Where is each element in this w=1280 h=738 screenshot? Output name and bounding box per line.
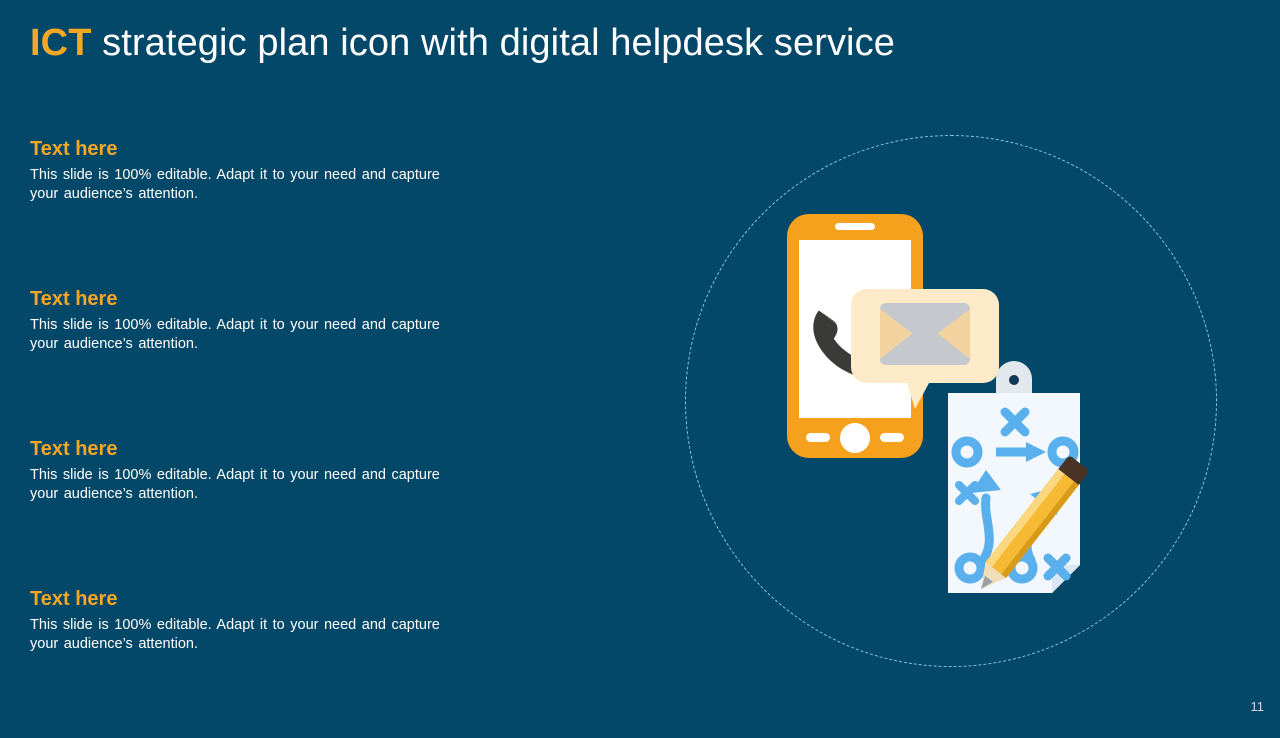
x-mark-bottom-right (1048, 558, 1066, 576)
slide-root: ICT strategic plan icon with digital hel… (0, 0, 1280, 720)
content-block-4: Text here This slide is 100% editable. A… (30, 588, 480, 738)
content-block-3: Text here This slide is 100% editable. A… (30, 438, 480, 588)
block-body: This slide is 100% editable. Adapt it to… (30, 166, 470, 204)
title-accent-word: ICT (30, 22, 92, 64)
envelope-icon (880, 303, 970, 365)
block-heading: Text here (30, 438, 480, 460)
block-body: This slide is 100% editable. Adapt it to… (30, 316, 470, 354)
x-mark-left (959, 485, 975, 501)
block-heading: Text here (30, 588, 480, 610)
page-title: ICT strategic plan icon with digital hel… (30, 22, 895, 65)
block-body: This slide is 100% editable. Adapt it to… (30, 466, 470, 504)
page-number: 11 (1251, 699, 1265, 714)
block-heading: Text here (30, 288, 480, 310)
block-heading: Text here (30, 138, 480, 160)
block-body: This slide is 100% editable. Adapt it to… (30, 616, 470, 654)
illustration (680, 130, 1225, 675)
illustration-artwork (680, 130, 1225, 675)
content-column: Text here This slide is 100% editable. A… (30, 138, 480, 738)
title-rest: strategic plan icon with digital helpdes… (92, 22, 895, 64)
content-block-2: Text here This slide is 100% editable. A… (30, 288, 480, 438)
content-block-1: Text here This slide is 100% editable. A… (30, 138, 480, 288)
